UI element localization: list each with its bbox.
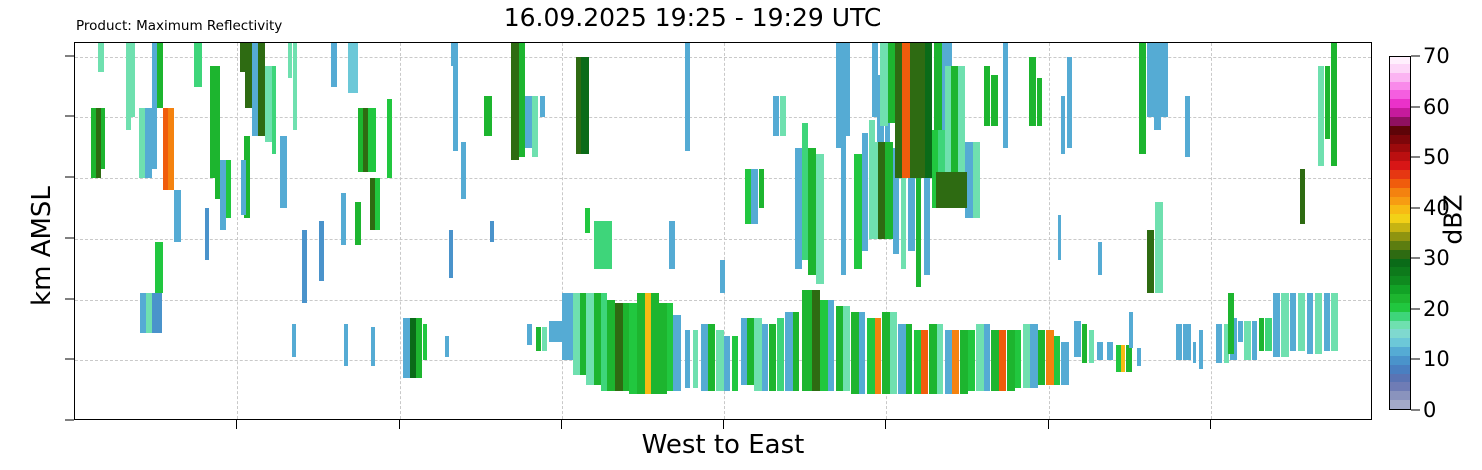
reflectivity-bar <box>882 312 890 394</box>
y-tick-mark <box>65 177 74 178</box>
reflectivity-bar <box>302 230 307 303</box>
reflectivity-bar <box>1161 43 1167 117</box>
colorbar-tick-label: 0 <box>1423 398 1436 422</box>
colorbar-segment <box>1390 161 1410 170</box>
reflectivity-bar <box>637 293 645 393</box>
reflectivity-bar <box>793 312 799 391</box>
colorbar-segment <box>1390 249 1410 258</box>
reflectivity-bar <box>916 178 921 287</box>
reflectivity-bar <box>843 43 849 136</box>
reflectivity-bar <box>991 330 999 391</box>
reflectivity-bar <box>174 190 182 242</box>
reflectivity-bar <box>98 43 103 72</box>
reflectivity-bar <box>573 293 579 375</box>
reflectivity-bar <box>562 293 574 360</box>
colorbar-segment <box>1390 125 1410 134</box>
reflectivity-bar <box>355 202 360 245</box>
reflectivity-bar <box>1029 57 1035 127</box>
colorbar-tick-mark <box>1411 308 1420 309</box>
colorbar-segment <box>1390 400 1410 409</box>
reflectivity-bar <box>1307 293 1313 354</box>
y-tick-mark <box>65 420 74 421</box>
reflectivity-bar <box>973 142 979 218</box>
reflectivity-bar <box>841 136 846 276</box>
reflectivity-bar <box>168 108 173 190</box>
reflectivity-bar <box>265 66 273 142</box>
reflectivity-bar <box>1139 43 1145 154</box>
reflectivity-bar <box>155 242 163 294</box>
reflectivity-bar <box>1290 293 1296 351</box>
reflectivity-bar <box>669 221 674 270</box>
reflectivity-bar <box>934 43 942 136</box>
reflectivity-bar <box>1273 293 1279 357</box>
reflectivity-bar <box>1074 321 1080 357</box>
reflectivity-bar <box>777 318 783 391</box>
reflectivity-bar <box>808 148 816 276</box>
colorbar-tick-mark <box>1411 106 1420 107</box>
colorbar-segment <box>1390 258 1410 267</box>
colorbar-tick-label: 60 <box>1423 95 1450 119</box>
gridline-vertical <box>237 43 238 419</box>
reflectivity-bar <box>836 306 844 391</box>
colorbar-segment <box>1390 338 1410 347</box>
reflectivity-bar <box>1298 293 1306 351</box>
reflectivity-bar <box>885 142 893 239</box>
reflectivity-bar <box>1300 169 1305 224</box>
reflectivity-bar <box>368 108 376 172</box>
reflectivity-bar <box>929 324 937 394</box>
reflectivity-bar <box>341 193 346 245</box>
reflectivity-bar <box>958 66 966 184</box>
reflectivity-bar <box>348 43 358 93</box>
reflectivity-bar <box>288 43 292 78</box>
colorbar-segment <box>1390 391 1410 400</box>
y-tick-mark <box>65 116 74 117</box>
colorbar-segment <box>1390 276 1410 285</box>
reflectivity-bar <box>851 312 859 394</box>
reflectivity-bar <box>152 293 162 332</box>
reflectivity-bar <box>673 315 681 391</box>
reflectivity-bar <box>906 324 912 394</box>
colorbar-tick-label: 10 <box>1423 347 1450 371</box>
reflectivity-bar <box>862 133 868 251</box>
reflectivity-bar <box>936 172 967 208</box>
reflectivity-bar <box>1324 293 1330 351</box>
x-tick-mark <box>236 420 237 429</box>
reflectivity-bar <box>157 43 163 108</box>
reflectivity-bar <box>910 43 918 178</box>
reflectivity-bar <box>1315 293 1323 354</box>
reflectivity-bar <box>1061 342 1069 385</box>
reflectivity-bar <box>423 324 427 360</box>
colorbar-tick-label: 20 <box>1423 297 1450 321</box>
x-tick-mark <box>1210 420 1211 429</box>
colorbar-segment <box>1390 240 1410 249</box>
reflectivity-bar <box>319 221 324 282</box>
reflectivity-bar <box>780 96 786 135</box>
reflectivity-bar <box>527 324 532 345</box>
colorbar-segment <box>1390 231 1410 240</box>
reflectivity-bar <box>701 324 709 391</box>
reflectivity-bar <box>762 324 768 391</box>
reflectivity-bar <box>773 96 778 135</box>
reflectivity-bar <box>693 330 698 388</box>
reflectivity-bar <box>1238 321 1243 342</box>
colorbar-segment <box>1390 72 1410 81</box>
reflectivity-bar <box>252 43 258 136</box>
reflectivity-bar <box>945 330 953 394</box>
colorbar-segment <box>1390 99 1410 108</box>
colorbar-segment <box>1390 364 1410 373</box>
reflectivity-bar <box>968 330 974 391</box>
reflectivity-bar <box>785 312 793 391</box>
reflectivity-bar <box>1228 293 1234 354</box>
reflectivity-bar <box>812 290 820 390</box>
reflectivity-bar <box>651 293 659 393</box>
reflectivity-bar <box>724 336 730 391</box>
reflectivity-bar <box>532 96 538 157</box>
reflectivity-bar <box>952 330 958 394</box>
colorbar-segment <box>1390 56 1410 64</box>
colorbar-segment <box>1390 382 1410 391</box>
reflectivity-bar <box>667 303 673 391</box>
reflectivity-bar <box>1089 330 1094 363</box>
reflectivity-bar <box>914 330 922 394</box>
colorbar-segment <box>1390 329 1410 338</box>
reflectivity-bar <box>1331 293 1337 351</box>
y-tick-mark <box>65 237 74 238</box>
reflectivity-bar <box>1154 43 1162 130</box>
reflectivity-bar <box>872 43 878 117</box>
reflectivity-bar <box>795 148 801 269</box>
reflectivity-bar <box>331 43 337 87</box>
y-axis-label: km AMSL <box>27 126 57 366</box>
reflectivity-bar <box>101 108 105 169</box>
reflectivity-bar <box>898 324 906 394</box>
reflectivity-bar <box>1265 318 1271 351</box>
reflectivity-bar <box>769 324 775 391</box>
reflectivity-bar <box>540 96 545 117</box>
reflectivity-bar <box>759 169 764 208</box>
colorbar-segment <box>1390 187 1410 196</box>
colorbar-tick-label: 70 <box>1423 44 1450 68</box>
colorbar-segment <box>1390 90 1410 99</box>
colorbar-segment <box>1390 81 1410 90</box>
reflectivity-bar <box>1244 321 1250 360</box>
reflectivity-bar <box>1067 57 1072 148</box>
reflectivity-bar <box>445 336 449 357</box>
reflectivity-bar <box>511 43 519 160</box>
reflectivity-bar <box>720 260 725 293</box>
reflectivity-bar <box>194 43 202 87</box>
reflectivity-bar <box>1318 66 1323 166</box>
colorbar-segment <box>1390 178 1410 187</box>
x-axis-label: West to East <box>74 430 1372 460</box>
colorbar-tick-mark <box>1411 207 1420 208</box>
colorbar-segment <box>1390 302 1410 311</box>
reflectivity-bar <box>1325 66 1330 139</box>
colorbar-segment <box>1390 205 1410 214</box>
gridline-horizontal <box>75 57 1371 58</box>
reflectivity-bar <box>869 142 878 239</box>
reflectivity-bar <box>1176 324 1182 360</box>
reflectivity-bar <box>205 208 209 260</box>
reflectivity-bar <box>1183 324 1191 360</box>
reflectivity-bar <box>1252 321 1257 360</box>
reflectivity-bar <box>1097 342 1103 360</box>
colorbar[interactable] <box>1389 56 1411 410</box>
reflectivity-bar <box>1193 342 1197 363</box>
reflectivity-bar <box>387 99 392 178</box>
reflectivity-bar <box>293 43 297 130</box>
colorbar-segment <box>1390 320 1410 329</box>
reflectivity-bar <box>685 43 690 151</box>
reflectivity-bar <box>1216 324 1222 363</box>
reflectivity-bar <box>484 96 492 135</box>
x-tick-mark <box>723 420 724 429</box>
colorbar-tick-mark <box>1411 56 1420 57</box>
reflectivity-bar <box>241 160 246 215</box>
reflectivity-bar <box>1259 318 1264 351</box>
x-tick-mark <box>885 420 886 429</box>
reflectivity-bar <box>585 208 590 232</box>
reflectivity-bar <box>1129 312 1133 348</box>
reflectivity-bar <box>344 324 348 367</box>
colorbar-tick-mark <box>1411 258 1420 259</box>
reflectivity-bar <box>145 108 151 178</box>
plot-area[interactable] <box>74 42 1372 420</box>
reflectivity-bar <box>867 318 875 394</box>
reflectivity-bar <box>629 303 637 394</box>
colorbar-label: dBZ <box>1439 165 1468 275</box>
reflectivity-bar <box>1061 96 1065 154</box>
reflectivity-bar <box>451 43 456 66</box>
reflectivity-bar <box>536 327 541 351</box>
reflectivity-bar <box>741 318 747 385</box>
colorbar-segment <box>1390 152 1410 161</box>
reflectivity-bar <box>1121 345 1125 372</box>
colorbar-tick-mark <box>1411 410 1420 411</box>
colorbar-segment <box>1390 63 1410 72</box>
x-tick-mark <box>399 420 400 429</box>
reflectivity-bar <box>542 327 547 351</box>
reflectivity-bar <box>1015 330 1021 388</box>
reflectivity-bar <box>1199 330 1203 369</box>
colorbar-segment <box>1390 116 1410 125</box>
gridline-horizontal <box>75 239 1371 240</box>
reflectivity-bar <box>1107 342 1113 360</box>
reflectivity-bar <box>1037 78 1042 127</box>
reflectivity-bar <box>1185 96 1190 157</box>
reflectivity-bar <box>1098 242 1102 275</box>
reflectivity-bar <box>921 330 927 394</box>
radar-cross-section-figure: 16.09.2025 19:25 - 19:29 UTC Product: Ma… <box>0 0 1482 470</box>
reflectivity-bar <box>375 178 380 230</box>
colorbar-segment <box>1390 293 1410 302</box>
reflectivity-bar <box>820 300 828 391</box>
colorbar-segment <box>1390 311 1410 320</box>
reflectivity-bar <box>594 221 612 270</box>
colorbar-segment <box>1390 346 1410 355</box>
reflectivity-bar <box>976 324 984 391</box>
reflectivity-bar <box>292 324 296 357</box>
reflectivity-bar <box>999 330 1005 391</box>
reflectivity-bar <box>1137 348 1141 366</box>
colorbar-segment <box>1390 214 1410 223</box>
colorbar-segment <box>1390 143 1410 152</box>
reflectivity-bar <box>708 324 714 391</box>
reflectivity-bar <box>607 300 615 391</box>
reflectivity-bar <box>131 43 135 117</box>
x-tick-mark <box>561 420 562 429</box>
reflectivity-bar <box>525 96 531 148</box>
reflectivity-bar <box>371 327 375 366</box>
y-tick-mark <box>65 298 74 299</box>
reflectivity-bar <box>1007 330 1015 391</box>
reflectivity-bar <box>859 312 865 394</box>
reflectivity-bar <box>754 318 762 391</box>
reflectivity-bar <box>152 108 157 169</box>
reflectivity-bar <box>984 66 990 127</box>
reflectivity-bar <box>1155 202 1163 293</box>
reflectivity-bar <box>581 57 589 154</box>
reflectivity-bar <box>594 293 600 384</box>
reflectivity-bar <box>1281 293 1289 357</box>
reflectivity-bar <box>902 43 910 178</box>
colorbar-tick-mark <box>1411 359 1420 360</box>
reflectivity-bar <box>828 300 834 391</box>
reflectivity-bar <box>875 318 881 394</box>
colorbar-segment <box>1390 373 1410 382</box>
reflectivity-bar <box>937 324 943 394</box>
colorbar-segment <box>1390 355 1410 364</box>
reflectivity-bar <box>272 66 276 154</box>
reflectivity-bar <box>1126 345 1131 372</box>
colorbar-segment <box>1390 196 1410 205</box>
reflectivity-bar <box>615 303 623 391</box>
gridline-vertical <box>1211 43 1212 419</box>
reflectivity-bar <box>461 142 466 200</box>
y-tick-mark <box>65 359 74 360</box>
colorbar-segment <box>1390 285 1410 294</box>
reflectivity-bar <box>1058 215 1062 261</box>
reflectivity-bar <box>1147 230 1153 294</box>
reflectivity-bar <box>816 154 824 285</box>
reflectivity-bar <box>854 154 862 269</box>
reflectivity-bar <box>586 293 594 384</box>
reflectivity-bar <box>1331 43 1336 166</box>
y-tick-mark <box>65 55 74 56</box>
reflectivity-bar <box>984 324 990 391</box>
reflectivity-bar <box>880 43 888 126</box>
gridline-horizontal <box>75 300 1371 301</box>
reflectivity-bar <box>836 43 844 148</box>
reflectivity-bar <box>1003 43 1008 148</box>
gridline-horizontal <box>75 178 1371 179</box>
reflectivity-bar <box>751 169 757 224</box>
reflectivity-bar <box>1054 336 1060 385</box>
colorbar-segment <box>1390 267 1410 276</box>
reflectivity-bar <box>960 330 968 394</box>
reflectivity-bar <box>1030 324 1038 388</box>
colorbar-segment <box>1390 169 1410 178</box>
reflectivity-bar <box>917 43 925 178</box>
reflectivity-bar <box>802 290 812 390</box>
reflectivity-bar <box>226 160 231 218</box>
reflectivity-bar <box>490 221 494 242</box>
reflectivity-bar <box>843 306 849 391</box>
reflectivity-bar <box>1038 330 1044 385</box>
colorbar-segment <box>1390 134 1410 143</box>
reflectivity-bar <box>449 230 453 279</box>
reflectivity-bar <box>685 330 690 388</box>
colorbar-segment <box>1390 223 1410 232</box>
product-annotation: Product: Maximum Reflectivity <box>76 18 282 34</box>
reflectivity-bar <box>1082 324 1087 363</box>
reflectivity-bar <box>659 303 667 394</box>
gridline-vertical <box>400 43 401 419</box>
reflectivity-bar <box>1023 324 1031 388</box>
reflectivity-bar <box>991 75 997 127</box>
gridline-vertical <box>562 43 563 419</box>
reflectivity-bar <box>732 336 738 391</box>
colorbar-segment <box>1390 108 1410 117</box>
reflectivity-bar <box>549 321 562 342</box>
reflectivity-bar <box>890 312 896 394</box>
reflectivity-bar <box>888 43 896 123</box>
reflectivity-bar <box>716 330 724 391</box>
reflectivity-bar <box>280 136 286 209</box>
reflectivity-bar <box>1046 330 1054 385</box>
colorbar-tick-mark <box>1411 157 1420 158</box>
x-tick-mark <box>1048 420 1049 429</box>
reflectivity-bar <box>416 318 421 379</box>
